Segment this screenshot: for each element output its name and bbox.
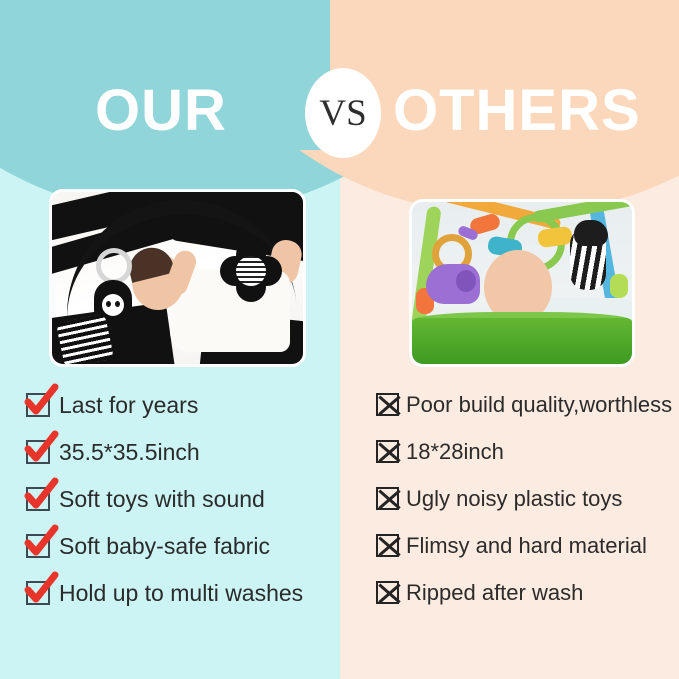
list-item: Soft toys with sound (26, 475, 346, 522)
zebra-head (574, 220, 608, 246)
list-item: Flimsy and hard material (376, 522, 676, 569)
list-item-label: Flimsy and hard material (406, 532, 647, 560)
vs-label: VS (319, 92, 366, 135)
our-product-photo (49, 189, 306, 367)
elephant-ear (456, 270, 476, 292)
x-icon (376, 581, 399, 604)
list-item: Ugly noisy plastic toys (376, 475, 676, 522)
list-item: 18*28inch (376, 428, 676, 475)
plastic-toy (610, 274, 628, 298)
polka-dot-toy (56, 313, 114, 367)
list-item: 35.5*35.5inch (26, 428, 346, 475)
list-item-label: Last for years (59, 391, 198, 419)
panda-face (102, 294, 124, 316)
x-icon (376, 393, 399, 416)
list-item-label: Hold up to multi washes (59, 579, 303, 607)
teether-ring (96, 248, 132, 284)
check-icon (26, 534, 50, 558)
other-product-photo (409, 199, 635, 367)
check-icon (26, 581, 50, 605)
list-item-label: Ripped after wash (406, 579, 583, 607)
others-feature-list: Poor build quality,worthless 18*28inch U… (376, 381, 676, 616)
others-title: OTHERS (393, 76, 679, 146)
x-icon (376, 487, 399, 510)
list-item: Ripped after wash (376, 569, 676, 616)
list-item-label: 18*28inch (406, 438, 504, 466)
list-item-label: Soft baby-safe fabric (59, 532, 270, 560)
x-icon (376, 534, 399, 557)
green-play-mat (412, 318, 632, 364)
check-icon (26, 487, 50, 511)
list-item-label: 35.5*35.5inch (59, 438, 200, 466)
list-item: Hold up to multi washes (26, 569, 346, 616)
flower-center (236, 256, 266, 286)
flower-toy (220, 240, 282, 302)
vs-badge: VS (305, 68, 381, 158)
list-item: Poor build quality,worthless (376, 381, 676, 428)
check-icon (26, 393, 50, 417)
list-item: Soft baby-safe fabric (26, 522, 346, 569)
our-title: OUR (95, 76, 310, 146)
list-item-label: Ugly noisy plastic toys (406, 485, 622, 513)
list-item-label: Soft toys with sound (59, 485, 265, 513)
our-feature-list: Last for years 35.5*35.5inch Soft toys w… (26, 381, 346, 616)
x-icon (376, 440, 399, 463)
check-icon (26, 440, 50, 464)
list-item-label: Poor build quality,worthless (406, 391, 672, 419)
list-item: Last for years (26, 381, 346, 428)
comparison-infographic: OUR OTHERS VS (0, 0, 679, 679)
elephant-toy (426, 264, 480, 304)
